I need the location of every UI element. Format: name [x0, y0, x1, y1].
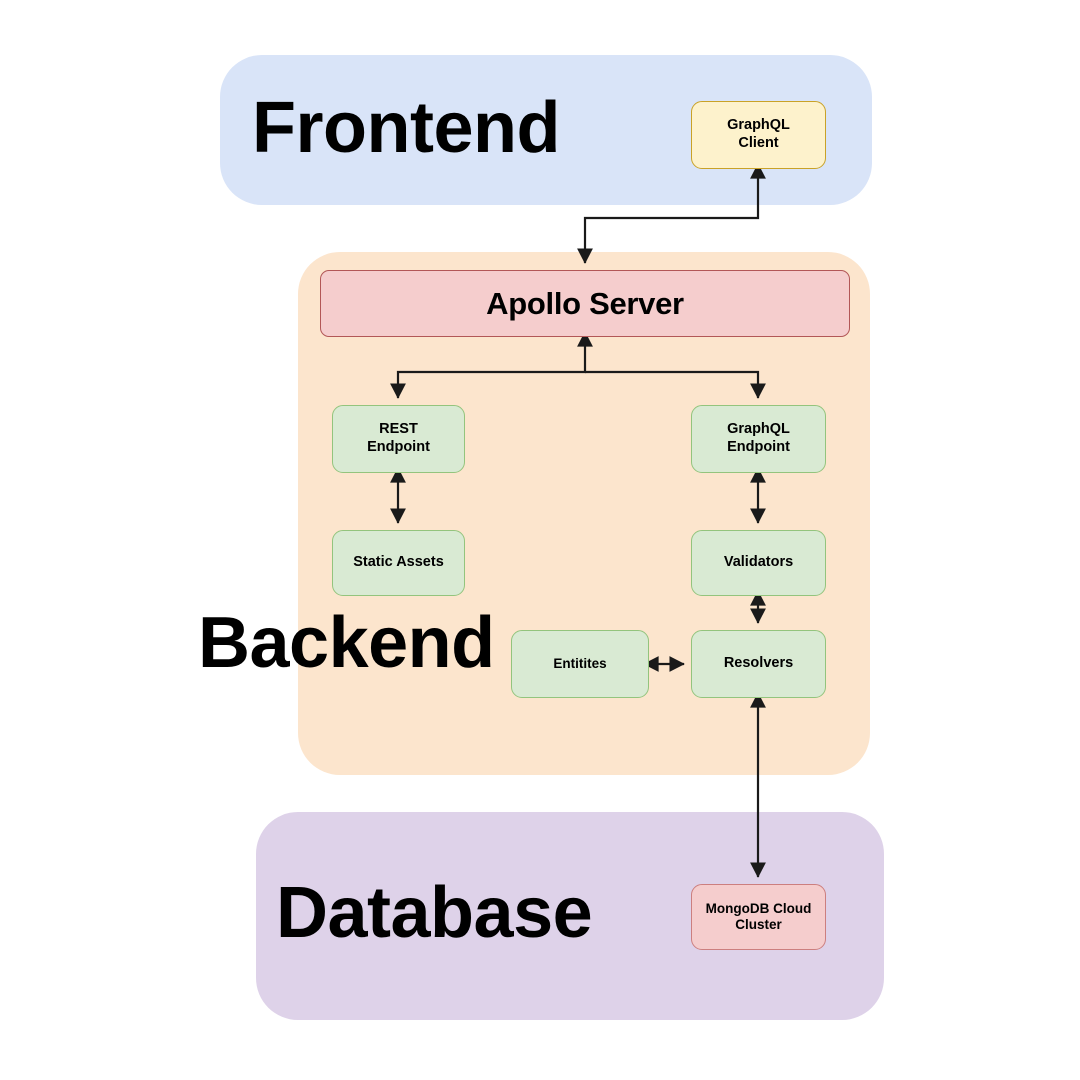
node-label-mongodb-cloud-cluster: MongoDB CloudCluster	[706, 901, 812, 934]
layer-title-frontend: Frontend	[252, 92, 560, 164]
node-label-entitites: Entitites	[553, 656, 606, 672]
node-graphql-endpoint[interactable]: GraphQLEndpoint	[691, 405, 826, 473]
node-label-rest-endpoint: RESTEndpoint	[367, 421, 430, 456]
node-label-line2: Client	[738, 135, 778, 151]
node-label-line1: Validators	[724, 554, 793, 570]
node-mongodb-cloud-cluster[interactable]: MongoDB CloudCluster	[691, 884, 826, 950]
node-label-line1: MongoDB Cloud	[706, 901, 812, 916]
node-rest-endpoint[interactable]: RESTEndpoint	[332, 405, 465, 473]
layer-title-backend: Backend	[198, 607, 495, 679]
node-label-static-assets: Static Assets	[353, 554, 444, 572]
node-label-graphql-client: GraphQLClient	[727, 117, 790, 152]
node-label-apollo-server: Apollo Server	[486, 285, 684, 323]
node-validators[interactable]: Validators	[691, 530, 826, 596]
node-graphql-client[interactable]: GraphQLClient	[691, 101, 826, 169]
layer-title-database: Database	[276, 877, 592, 949]
node-label-line1: Entitites	[553, 656, 606, 671]
node-label-validators: Validators	[724, 554, 793, 572]
node-label-line2: Cluster	[735, 917, 782, 932]
diagram-canvas: GraphQLClientApollo ServerRESTEndpointGr…	[0, 0, 1080, 1080]
node-label-line1: GraphQL	[727, 421, 790, 437]
node-label-line2: Endpoint	[727, 439, 790, 455]
node-entitites[interactable]: Entitites	[511, 630, 649, 698]
node-label-graphql-endpoint: GraphQLEndpoint	[727, 421, 790, 456]
node-label-line2: Endpoint	[367, 439, 430, 455]
node-static-assets[interactable]: Static Assets	[332, 530, 465, 596]
node-resolvers[interactable]: Resolvers	[691, 630, 826, 698]
node-label-line1: Static Assets	[353, 554, 444, 570]
node-label-resolvers: Resolvers	[724, 655, 793, 673]
node-apollo-server[interactable]: Apollo Server	[320, 270, 850, 337]
node-label-line1: Apollo Server	[486, 286, 684, 321]
node-label-line1: REST	[379, 421, 418, 437]
node-label-line1: GraphQL	[727, 117, 790, 133]
node-label-line1: Resolvers	[724, 655, 793, 671]
